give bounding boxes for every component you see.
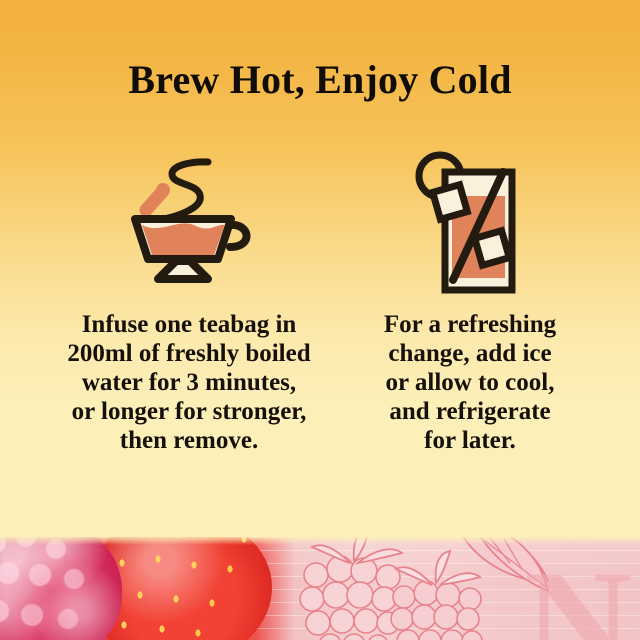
instruction-line: Infuse one teabag in: [34, 310, 344, 339]
promo-panel: Brew Hot, Enjoy Cold: [0, 0, 640, 640]
instruction-line: or allow to cool,: [356, 368, 584, 397]
instruction-line: and refrigerate: [356, 397, 584, 426]
iced-drink-glass-icon: [408, 150, 558, 295]
instruction-line: change, add ice: [356, 339, 584, 368]
instruction-line: 200ml of freshly boiled: [34, 339, 344, 368]
instruction-text-hot: Infuse one teabag in 200ml of freshly bo…: [34, 310, 344, 455]
spoon-icon: [146, 183, 170, 210]
instruction-line: For a refreshing: [356, 310, 584, 339]
instruction-text-cold: For a refreshing change, add ice or allo…: [356, 310, 584, 455]
instruction-line: or longer for stronger,: [34, 397, 344, 426]
instruction-line: water for 3 minutes,: [34, 368, 344, 397]
band-top-fade: [0, 537, 640, 545]
page-title: Brew Hot, Enjoy Cold: [0, 60, 640, 100]
steam-icon: [168, 162, 208, 218]
hot-teacup-svg: [118, 155, 273, 295]
iced-drink-svg: [408, 150, 558, 295]
ice-cube-icon: [475, 231, 510, 266]
hot-teacup-icon: [118, 155, 273, 295]
raspberry-drupelets: [0, 537, 122, 640]
ice-cube-icon: [433, 185, 468, 220]
cup-icon: [135, 219, 247, 279]
instruction-line: for later.: [356, 426, 584, 455]
instruction-line: then remove.: [34, 426, 344, 455]
brand-watermark-letter: N: [524, 548, 632, 640]
